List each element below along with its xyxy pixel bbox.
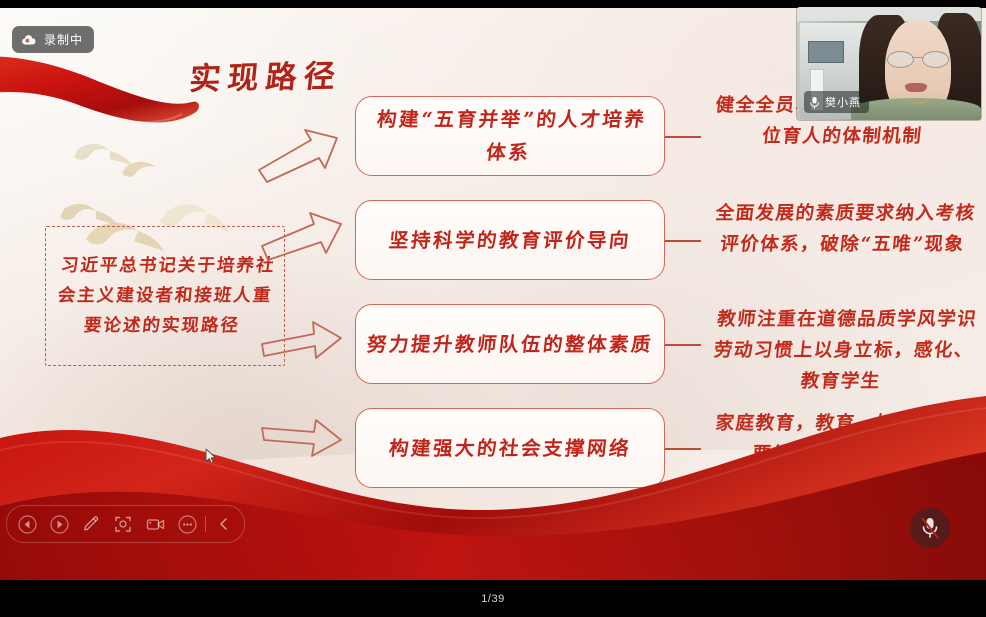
select-area-button[interactable] xyxy=(107,509,139,539)
source-statement-box: 习近平总书记关于培养社会主义建设者和接班人重要论述的实现路径 xyxy=(45,226,285,366)
recording-status-badge: 录制中 xyxy=(12,26,94,53)
path-box-2-text: 坚持科学的教育评价导向 xyxy=(377,224,642,257)
path-box-3-text: 努力提升教师队伍的整体素质 xyxy=(355,328,664,361)
collapse-toolbar-button[interactable] xyxy=(208,509,240,539)
path-box-2: 坚持科学的教育评价导向 xyxy=(355,200,665,280)
connector-line-1 xyxy=(665,136,701,138)
video-person-mouth xyxy=(905,83,927,92)
red-wave-decoration-icon xyxy=(0,390,986,580)
page-indicator: 1/39 xyxy=(481,593,504,605)
previous-slide-button[interactable] xyxy=(11,509,43,539)
toolbar-divider xyxy=(205,516,206,532)
note-text-3: 教师注重在道德品质学风学识劳动习惯上以身立标，感化、教育学生 xyxy=(701,304,986,397)
note-text-2: 全面发展的素质要求纳入考核评价体系，破除“五唯”现象 xyxy=(703,198,986,260)
arrow-icon-1 xyxy=(255,126,341,184)
next-slide-button[interactable] xyxy=(43,509,75,539)
participant-video-tile[interactable]: 樊小燕 xyxy=(797,7,981,120)
bottom-letterbox-bar: 1/39 xyxy=(0,580,986,617)
camera-button[interactable] xyxy=(139,509,171,539)
connector-line-3 xyxy=(665,344,701,346)
cloud-icon xyxy=(21,34,37,45)
recording-label: 录制中 xyxy=(44,31,83,48)
microphone-icon xyxy=(809,96,820,109)
video-person-glasses xyxy=(887,51,949,67)
path-box-1: 构建“五育并举”的人才培养体系 xyxy=(355,96,665,176)
page-title: 实现路径 xyxy=(188,50,345,98)
connector-line-2 xyxy=(665,240,701,242)
path-box-3: 努力提升教师队伍的整体素质 xyxy=(355,304,665,384)
video-person-necklace xyxy=(909,92,929,104)
annotate-pen-button[interactable] xyxy=(75,509,107,539)
presentation-toolbar[interactable] xyxy=(6,505,245,543)
arrow-icon-3 xyxy=(258,308,344,366)
path-box-1-text: 构建“五育并举”的人才培养体系 xyxy=(353,103,668,169)
participant-name: 樊小燕 xyxy=(825,94,861,110)
meeting-screen-share-window: 实现路径 习近平总书记关于培养社会主义建设者和接班人重要论述的实现路径 xyxy=(0,0,986,617)
source-statement-text: 习近平总书记关于培养社会主义建设者和接班人重要论述的实现路径 xyxy=(51,251,278,341)
mute-microphone-button[interactable] xyxy=(910,508,950,548)
participant-name-badge: 樊小燕 xyxy=(804,91,869,113)
more-options-button[interactable] xyxy=(171,509,203,539)
arrow-icon-2 xyxy=(258,208,344,266)
